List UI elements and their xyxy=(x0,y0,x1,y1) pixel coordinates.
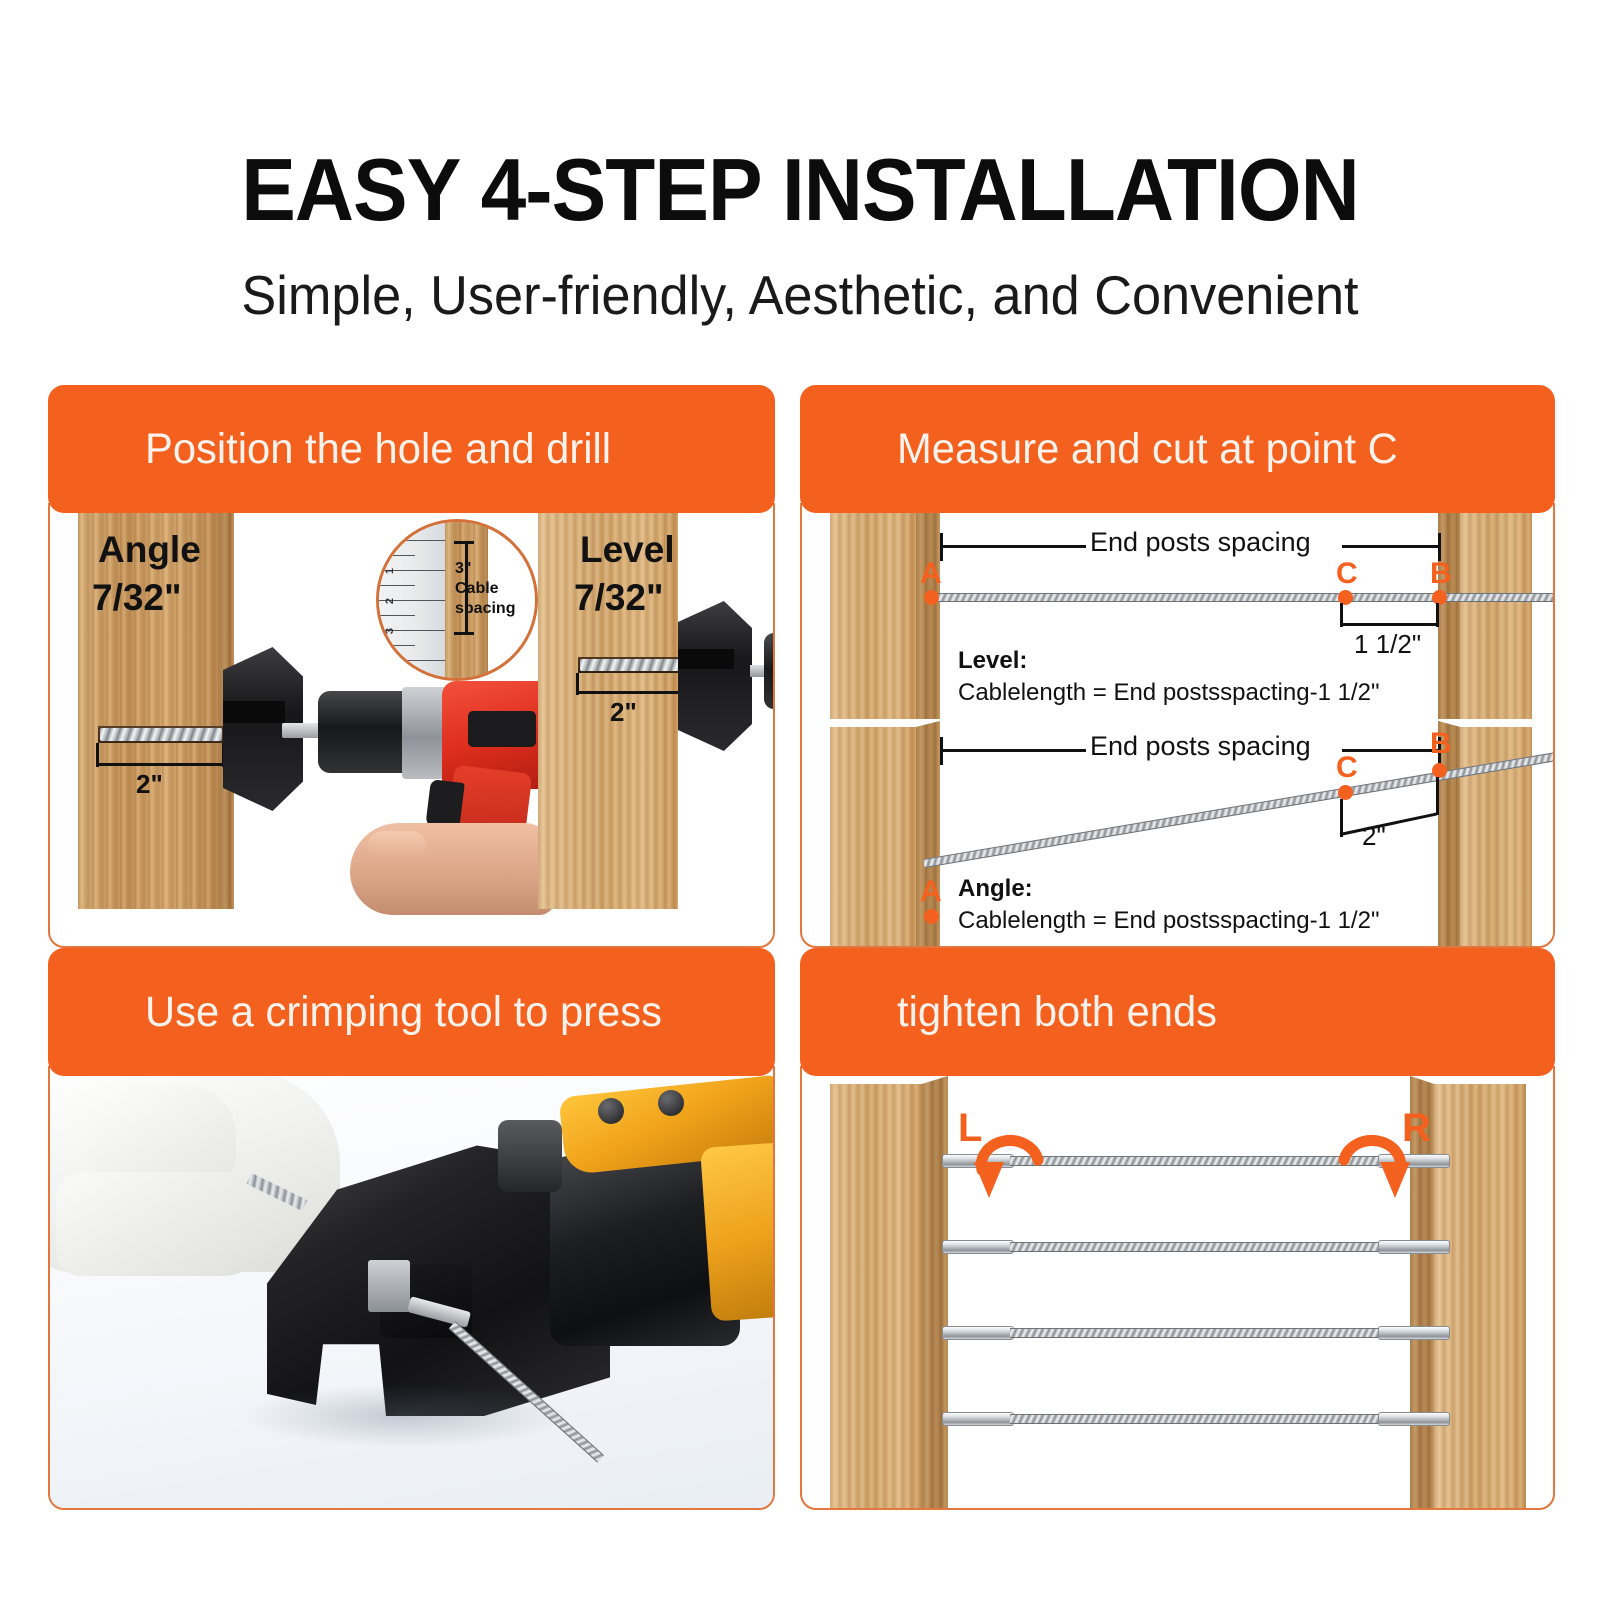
level-left-post-side xyxy=(916,507,940,719)
step-4-header: tighten both ends xyxy=(800,948,1555,1076)
level-depth-label: 2" xyxy=(610,697,637,728)
crimp-tool-handle-body xyxy=(700,1140,775,1321)
cable-2-left-ferrule xyxy=(942,1240,1014,1254)
ruler-label-4: 4 xyxy=(384,658,396,664)
angle-point-c-dot xyxy=(1338,785,1353,800)
handle-bolt-left xyxy=(598,1098,624,1124)
step-2-header: Measure and cut at point C xyxy=(800,385,1555,513)
step-1-illustration: Angle 7/32" 2" xyxy=(50,505,773,946)
angle-tool-band xyxy=(223,701,285,723)
right-rotate-arrow-icon xyxy=(1332,1126,1412,1204)
level-span-line-right xyxy=(1342,545,1441,548)
cable-2 xyxy=(1010,1242,1422,1252)
step-3-body xyxy=(48,1066,775,1510)
drill-chuck xyxy=(318,691,412,773)
level-point-a-label: A xyxy=(920,557,942,591)
level-span-label: End posts spacing xyxy=(1090,527,1311,558)
level-cb-dim: 1 1/2" xyxy=(1354,629,1421,660)
glove-finger-lower xyxy=(56,1172,276,1276)
level-title: Level xyxy=(580,529,675,571)
level-dim-line xyxy=(576,691,683,694)
cable-3-left-ferrule xyxy=(942,1326,1014,1340)
cable-3-right-ferrule xyxy=(1378,1326,1450,1340)
step-1-panel: Position the hole and drill Angle 7/32" … xyxy=(48,385,775,948)
angle-point-c-label: C xyxy=(1336,751,1358,785)
step-4-panel: tighten both ends xyxy=(800,948,1555,1510)
tighten-left-post-side xyxy=(922,1076,948,1510)
step-3-header: Use a crimping tool to press xyxy=(48,948,775,1076)
step-1-header: Position the hole and drill xyxy=(48,385,775,513)
level-point-b-label: B xyxy=(1430,557,1452,591)
ruler-label-1: 1 xyxy=(384,568,396,574)
ruler-label-0: 0 xyxy=(384,538,396,544)
level-tool-head xyxy=(678,601,752,751)
level-right-post-face xyxy=(1460,513,1532,719)
glove-finger-upper xyxy=(86,1086,236,1182)
angle-drill-bit xyxy=(100,728,222,741)
level-caption-formula: Cablelength = End postsspacting-1 1/2" xyxy=(958,679,1379,707)
level-span-line-left xyxy=(940,545,1086,548)
angle-span-label: End posts spacing xyxy=(1090,731,1311,762)
step-3-photo xyxy=(50,1068,773,1508)
level-cb-line xyxy=(1340,623,1439,626)
angle-title: Angle xyxy=(98,529,201,571)
angle-caption-formula: Cablelength = End postsspacting-1 1/2" xyxy=(958,907,1379,935)
angle-point-b-dot xyxy=(1432,763,1447,778)
cable-4 xyxy=(1010,1414,1422,1424)
drill-grip-pad xyxy=(468,711,536,747)
thumb xyxy=(368,831,426,861)
ruler-label-3: 3 xyxy=(384,628,396,634)
angle-span-line-left xyxy=(940,749,1086,752)
step-1-body: Angle 7/32" 2" xyxy=(48,503,775,948)
step-4-body: L R xyxy=(800,1066,1555,1510)
step-3-panel: Use a crimping tool to press xyxy=(48,948,775,1510)
level-point-b-dot xyxy=(1432,590,1447,605)
level-left-post-face xyxy=(830,513,916,719)
spacing-dim-cap-top xyxy=(454,541,474,544)
tighten-right-post-face xyxy=(1434,1084,1526,1510)
angle-caption-title: Angle: xyxy=(958,875,1033,903)
left-rotate-arrow-icon xyxy=(972,1126,1052,1204)
magnifier-spacing-word: spacing xyxy=(455,600,515,618)
step-3-header-label: Use a crimping tool to press xyxy=(48,988,662,1037)
magnifier-spacing-value: 3" xyxy=(455,560,471,578)
infographic-page: EASY 4-STEP INSTALLATION Simple, User-fr… xyxy=(0,0,1600,1600)
angle-dim-line xyxy=(96,763,224,766)
tighten-left-post-face xyxy=(830,1084,922,1510)
level-drill-chuck xyxy=(764,633,775,709)
step-1-header-label: Position the hole and drill xyxy=(48,425,611,474)
angle-size: 7/32" xyxy=(92,577,182,619)
angle-left-post-face xyxy=(830,727,916,948)
page-title: EASY 4-STEP INSTALLATION xyxy=(56,146,1544,234)
step-2-header-label: Measure and cut at point C xyxy=(800,425,1398,474)
step-2-body: End posts spacing A C B 1 1/2" xyxy=(800,503,1555,948)
ruler-label-2: 2 xyxy=(384,598,396,604)
level-point-c-label: C xyxy=(1336,557,1358,591)
crimp-tool-knob xyxy=(498,1120,562,1192)
ruler-tick-half-d xyxy=(379,645,415,646)
magnifier-cable-word: Cable xyxy=(455,580,499,598)
handle-bolt-right xyxy=(658,1090,684,1116)
ruler-tick-half-b xyxy=(379,585,415,586)
angle-depth-label: 2" xyxy=(136,769,163,800)
step-2-panel: Measure and cut at point C End p xyxy=(800,385,1555,948)
angle-point-b-label: B xyxy=(1430,727,1452,761)
level-right-post-side xyxy=(1438,507,1460,719)
angle-cb-line xyxy=(1340,812,1437,836)
level-cable-diagram: End posts spacing A C B 1 1/2" xyxy=(802,505,1553,719)
level-size: 7/32" xyxy=(574,577,664,619)
cable-2-right-ferrule xyxy=(1378,1240,1450,1254)
level-cable xyxy=(926,593,1555,602)
step-2-illustration: End posts spacing A C B 1 1/2" xyxy=(802,505,1553,946)
cable-3 xyxy=(1010,1328,1422,1338)
spacing-dim-cap-bottom xyxy=(454,632,474,635)
cable-4-left-ferrule xyxy=(942,1412,1014,1426)
step-4-header-label: tighten both ends xyxy=(800,988,1217,1037)
cable-spacing-magnifier: 0 1 2 3 4 3" Cable spacing xyxy=(376,519,538,681)
ruler-tick-half-a xyxy=(379,555,415,556)
angle-point-a-dot xyxy=(924,909,939,924)
tool-shadow xyxy=(240,1384,570,1448)
page-subtitle: Simple, User-friendly, Aesthetic, and Co… xyxy=(40,268,1560,323)
angle-point-a-label: A xyxy=(920,875,942,909)
angle-cb-dim: 2" xyxy=(1362,821,1386,852)
step-4-illustration: L R xyxy=(802,1068,1553,1508)
level-drill-bit xyxy=(580,659,680,671)
angle-cb-ext-right xyxy=(1436,777,1439,815)
angle-cable-diagram: End posts spacing A C B 2" Angle: Cablel… xyxy=(802,719,1553,948)
ruler-tick-half-c xyxy=(379,615,415,616)
level-point-a-dot xyxy=(924,590,939,605)
level-caption-title: Level: xyxy=(958,647,1027,675)
level-tool-band xyxy=(678,649,734,669)
cable-4-right-ferrule xyxy=(1378,1412,1450,1426)
crimp-die-blade xyxy=(368,1260,410,1312)
ruler: 0 1 2 3 4 xyxy=(379,522,445,678)
